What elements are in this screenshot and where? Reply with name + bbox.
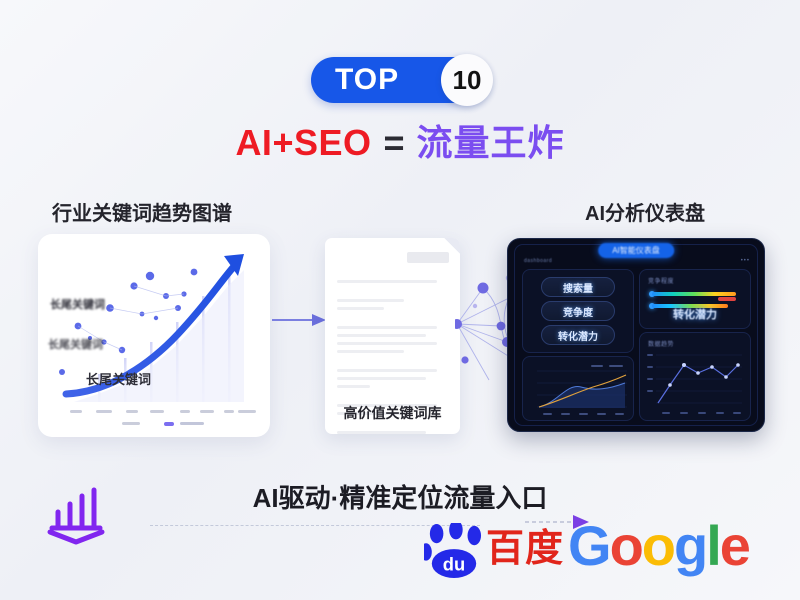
right-section-caption: AI分析仪表盘 [585, 197, 705, 226]
gauge-threshold-tag [718, 297, 736, 301]
trend-label-3: 长尾关键词 [86, 369, 151, 388]
gauge-panel-title: 竞争程度 [648, 276, 674, 285]
document-title: 高价值关键词库 [325, 403, 460, 423]
flow-arrow-icon [272, 312, 328, 328]
metric-button-conversion[interactable]: 转化潜力 [541, 325, 615, 345]
google-letter-g2: g [674, 514, 706, 577]
headline-right: 流量王炸 [417, 122, 565, 163]
keyword-trend-card: 长尾关键词 长尾关键词 长尾关键词 [38, 234, 270, 437]
baidu-paw-icon: du [424, 523, 484, 579]
baidu-wordmark: 百度 [486, 530, 564, 568]
gauge-bar-1 [652, 292, 736, 296]
dashboard-header-badge: AI智能仪表盘 [598, 243, 674, 258]
left-section-caption: 行业关键词趋势图谱 [52, 197, 232, 226]
page-title: AI+SEO=流量王炸 [0, 125, 800, 161]
traffic-area-chart [523, 357, 633, 420]
baidu-mark-text: du [443, 553, 465, 574]
google-letter-g1: G [568, 514, 610, 577]
document-header-chip [407, 252, 449, 263]
bar-chart-icon [44, 482, 120, 548]
data-trend-line-chart [640, 333, 750, 420]
google-letter-e: e [720, 514, 749, 577]
headline-left: AI+SEO [235, 122, 371, 163]
google-letter-l: l [706, 514, 720, 577]
metrics-panel: 搜索量 竞争度 转化潜力 [522, 269, 634, 353]
keyword-library-document: 高价值关键词库 [325, 238, 460, 434]
dashboard-menu-icon[interactable]: ••• [741, 258, 750, 264]
top-rank-badge: TOP 10 [311, 57, 489, 103]
traffic-area-chart-panel [522, 356, 634, 421]
google-letter-o1: o [610, 514, 642, 577]
trend-label-1: 长尾关键词 [50, 296, 105, 312]
top-badge-label: TOP [335, 65, 399, 95]
data-trend-chart-panel: 数据趋势 [639, 332, 751, 421]
ai-dashboard: AI智能仪表盘 dashboard ••• 搜索量 竞争度 转化潜力 [507, 238, 765, 432]
gauge-overlay-label: 转化潜力 [640, 306, 750, 322]
top-badge-number: 10 [453, 67, 482, 93]
metric-button-search-volume[interactable]: 搜索量 [541, 277, 615, 297]
bottom-tagline: AI驱动·精准定位流量入口 [0, 478, 800, 515]
slide-canvas: TOP 10 AI+SEO=流量王炸 行业关键词趋势图谱 AI分析仪表盘 [0, 0, 800, 600]
headline-equals: = [384, 122, 405, 163]
metric-button-competition[interactable]: 竞争度 [541, 301, 615, 321]
trend-label-2: 长尾关键词 [48, 336, 103, 352]
potential-gauge-panel: 竞争程度 转化潜力 [639, 269, 751, 329]
dashboard-sub-label: dashboard [524, 258, 552, 264]
top-badge-circle: 10 [441, 54, 493, 106]
google-letter-o2: o [642, 514, 674, 577]
google-logo: Google [568, 518, 749, 574]
